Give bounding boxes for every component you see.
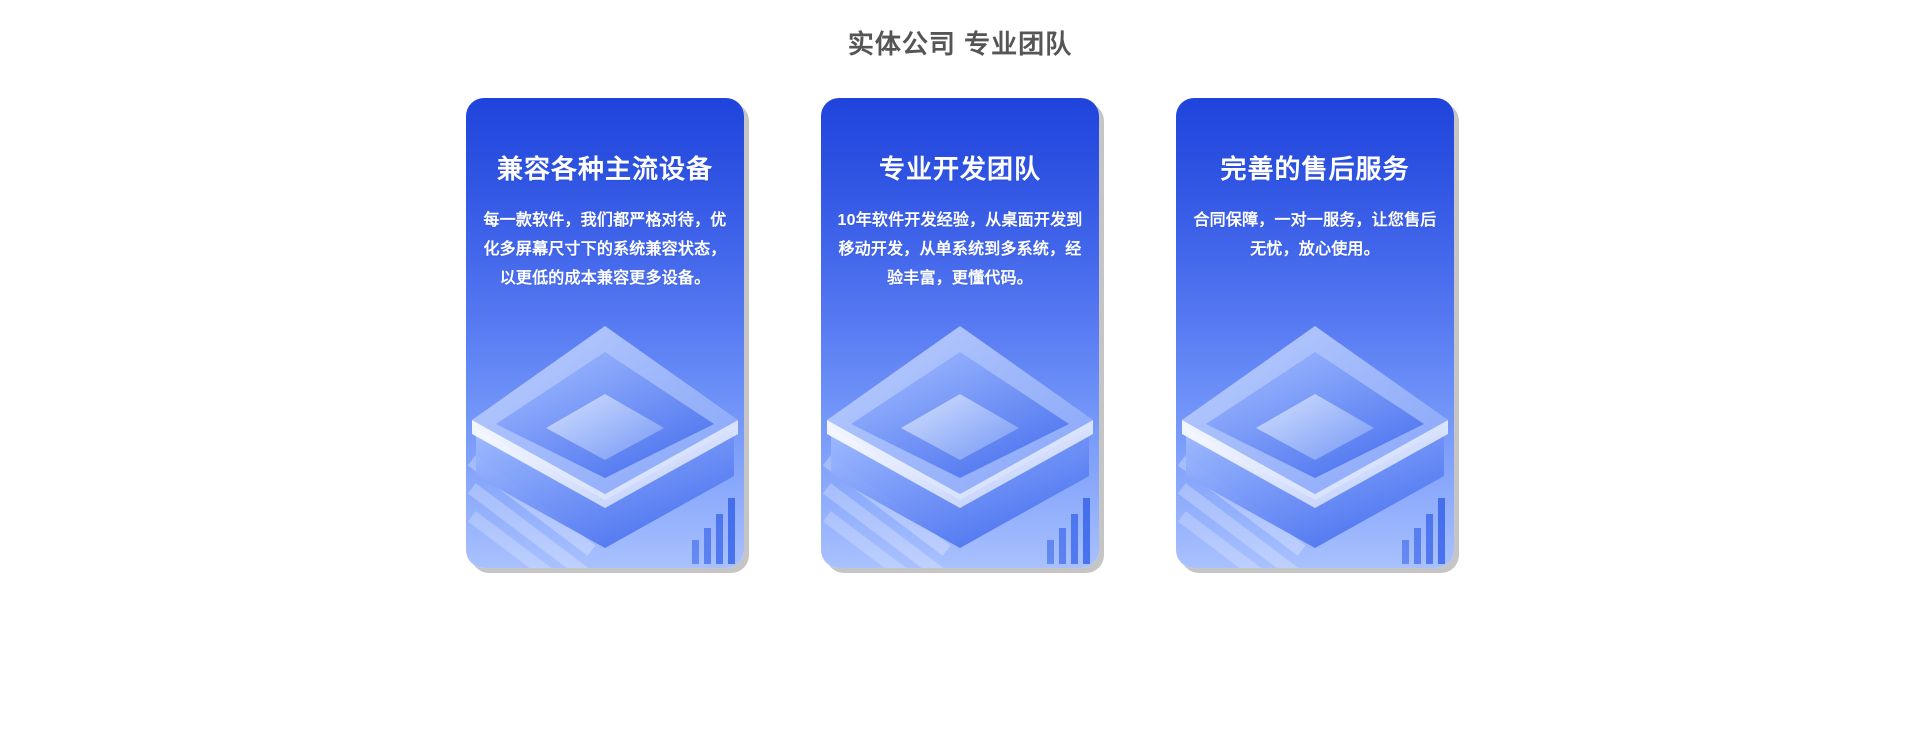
page-root: · · · · · · · · 实体公司 专业团队 兼容各种主流设备 每一款软件… [0,0,1920,731]
feature-card-dev-team[interactable]: 专业开发团队 10年软件开发经验，从桌面开发到移动开发，从单系统到多系统，经验丰… [821,98,1099,568]
feature-card-after-sales[interactable]: 完善的售后服务 合同保障，一对一服务，让您售后无忧，放心使用。 [1176,98,1454,568]
card-title: 专业开发团队 [835,154,1085,185]
card-description: 10年软件开发经验，从桌面开发到移动开发，从单系统到多系统，经验丰富，更懂代码。 [835,206,1085,293]
feature-card-compatibility[interactable]: 兼容各种主流设备 每一款软件，我们都严格对待，优化多屏幕尺寸下的系统兼容状态，以… [466,98,744,568]
feature-cards-row: 兼容各种主流设备 每一款软件，我们都严格对待，优化多屏幕尺寸下的系统兼容状态，以… [0,98,1920,578]
page-title: 实体公司 专业团队 [0,24,1920,61]
card-text-block: 完善的售后服务 合同保障，一对一服务，让您售后无忧，放心使用。 [1176,154,1454,264]
card-description: 合同保障，一对一服务，让您售后无忧，放心使用。 [1190,206,1440,264]
card-title: 兼容各种主流设备 [480,154,730,185]
card-text-block: 专业开发团队 10年软件开发经验，从桌面开发到移动开发，从单系统到多系统，经验丰… [821,154,1099,293]
card-description: 每一款软件，我们都严格对待，优化多屏幕尺寸下的系统兼容状态，以更低的成本兼容更多… [480,206,730,293]
isometric-platform-icon [466,308,744,568]
card-title: 完善的售后服务 [1190,154,1440,185]
isometric-platform-icon [1176,308,1454,568]
isometric-platform-icon [821,308,1099,568]
clipped-top-text: · · · · · · · · [0,0,1920,6]
card-text-block: 兼容各种主流设备 每一款软件，我们都严格对待，优化多屏幕尺寸下的系统兼容状态，以… [466,154,744,293]
